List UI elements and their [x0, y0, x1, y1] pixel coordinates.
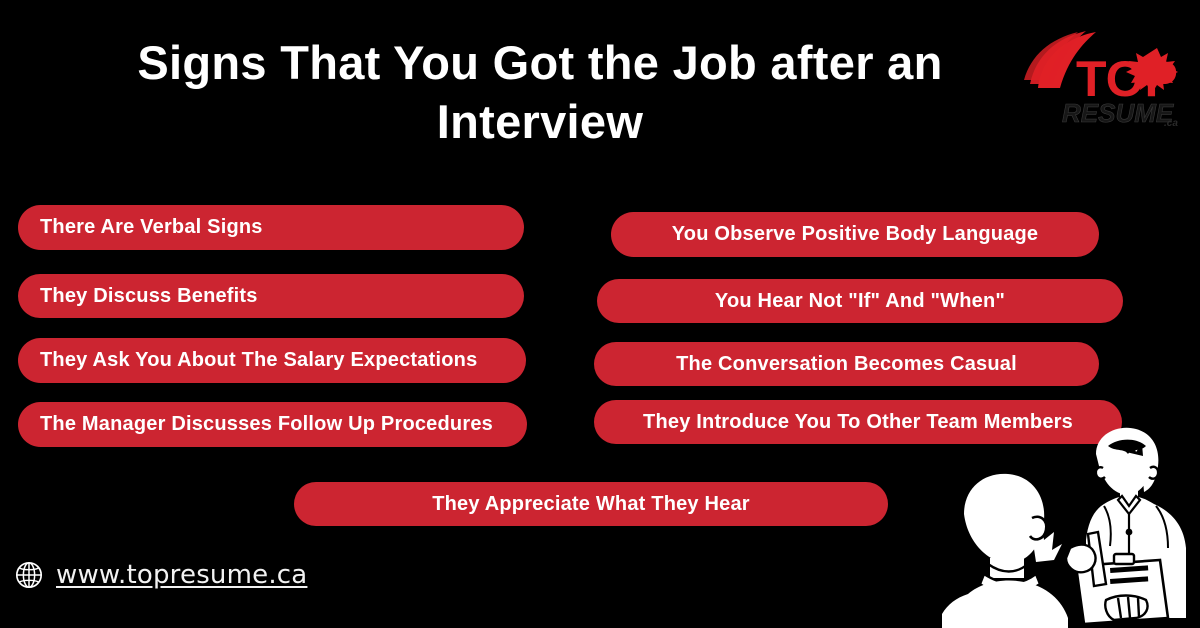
infographic-canvas: TOP RESUME .ca Signs That You Got the Jo… [0, 0, 1200, 628]
globe-icon [14, 560, 44, 590]
interview-illustration [928, 418, 1200, 628]
sign-pill-left-1[interactable]: There Are Verbal Signs [18, 205, 524, 250]
sign-pill-right-4[interactable]: They Introduce You To Other Team Members [594, 400, 1122, 444]
sign-pill-right-1[interactable]: You Observe Positive Body Language [611, 212, 1099, 257]
footer: www.topresume.ca [14, 560, 307, 590]
sign-pill-left-4[interactable]: The Manager Discusses Follow Up Procedur… [18, 402, 527, 447]
sign-pill-right-2[interactable]: You Hear Not "If" And "When" [597, 279, 1123, 323]
sign-pill-bottom-1[interactable]: They Appreciate What They Hear [294, 482, 888, 526]
topresume-logo[interactable]: TOP RESUME .ca [1020, 22, 1188, 140]
logo-tld-text: .ca [1164, 118, 1178, 129]
logo-resume-text: RESUME [1062, 98, 1174, 128]
page-title: Signs That You Got the Job after an Inte… [60, 34, 1020, 152]
sign-pill-left-3[interactable]: They Ask You About The Salary Expectatio… [18, 338, 526, 383]
sign-pill-left-2[interactable]: They Discuss Benefits [18, 274, 524, 318]
sign-pill-right-3[interactable]: The Conversation Becomes Casual [594, 342, 1099, 386]
website-url[interactable]: www.topresume.ca [56, 560, 307, 590]
